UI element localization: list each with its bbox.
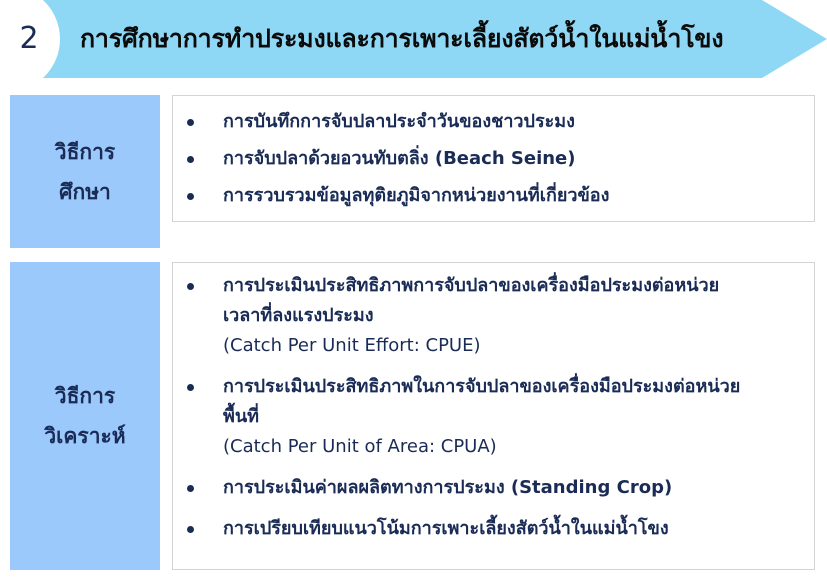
bullet-continuation-line: (Catch Per Unit of Area: CPUA) <box>223 432 814 462</box>
slide-header-banner: 2 การศึกษาการทำประมงและการเพาะเลี้ยงสัตว… <box>0 0 827 78</box>
section-label-analysis: วิธีการ วิเคราะห์ <box>10 262 160 570</box>
content-panel-analysis: การประเมินประสิทธิภาพการจับปลาของเครื่อง… <box>172 262 815 570</box>
bullet-text: การรวบรวมข้อมูลทุติยภูมิจากหน่วยงานที่เก… <box>223 185 609 206</box>
content-panel-study: การบันทึกการจับปลาประจำวันของชาวประมง กา… <box>172 95 815 222</box>
slide-title: การศึกษาการทำประมงและการเพาะเลี้ยงสัตว์น… <box>80 18 723 60</box>
section-label-line-2: วิเคราะห์ <box>44 416 125 456</box>
bullet-continuation-line: พื้นที่ <box>223 402 814 432</box>
section-label-study: วิธีการ ศึกษา <box>10 95 160 248</box>
list-item: การประเมินค่าผลผลิตทางการประมง (Standing… <box>173 473 814 503</box>
section-label-line-1: วิธีการ <box>55 376 115 416</box>
bullet-list-analysis: การประเมินประสิทธิภาพการจับปลาของเครื่อง… <box>173 263 814 544</box>
bullet-text: การประเมินค่าผลผลิตทางการประมง (Standing… <box>223 477 672 498</box>
section-study-methods: วิธีการ ศึกษา การบันทึกการจับปลาประจำวัน… <box>0 95 827 248</box>
bullet-text: การจับปลาด้วยอวนทับตลิ่ง (Beach Seine) <box>223 148 576 169</box>
bullet-continuation-line: (Catch Per Unit Effort: CPUE) <box>223 331 814 361</box>
bullet-continuation-line: เวลาที่ลงแรงประมง <box>223 301 814 331</box>
bullet-list-study: การบันทึกการจับปลาประจำวันของชาวประมง กา… <box>173 96 814 208</box>
list-item: การจับปลาด้วยอวนทับตลิ่ง (Beach Seine) <box>173 147 814 171</box>
bullet-text: การประเมินประสิทธิภาพในการจับปลาของเครื่… <box>223 376 740 397</box>
list-item: การรวบรวมข้อมูลทุติยภูมิจากหน่วยงานที่เก… <box>173 184 814 208</box>
bullet-text: การเปรียบเทียบแนวโน้มการเพาะเลี้ยงสัตว์น… <box>223 518 669 539</box>
bullet-text: การบันทึกการจับปลาประจำวันของชาวประมง <box>223 111 575 132</box>
section-analysis-methods: วิธีการ วิเคราะห์ การประเมินประสิทธิภาพก… <box>0 262 827 570</box>
section-label-line-2: ศึกษา <box>59 172 111 212</box>
list-item: การเปรียบเทียบแนวโน้มการเพาะเลี้ยงสัตว์น… <box>173 514 814 544</box>
slide-number: 2 <box>6 17 52 61</box>
list-item: การประเมินประสิทธิภาพการจับปลาของเครื่อง… <box>173 271 814 361</box>
bullet-text: การประเมินประสิทธิภาพการจับปลาของเครื่อง… <box>223 275 719 296</box>
list-item: การบันทึกการจับปลาประจำวันของชาวประมง <box>173 110 814 134</box>
section-label-line-1: วิธีการ <box>55 132 115 172</box>
list-item: การประเมินประสิทธิภาพในการจับปลาของเครื่… <box>173 372 814 462</box>
